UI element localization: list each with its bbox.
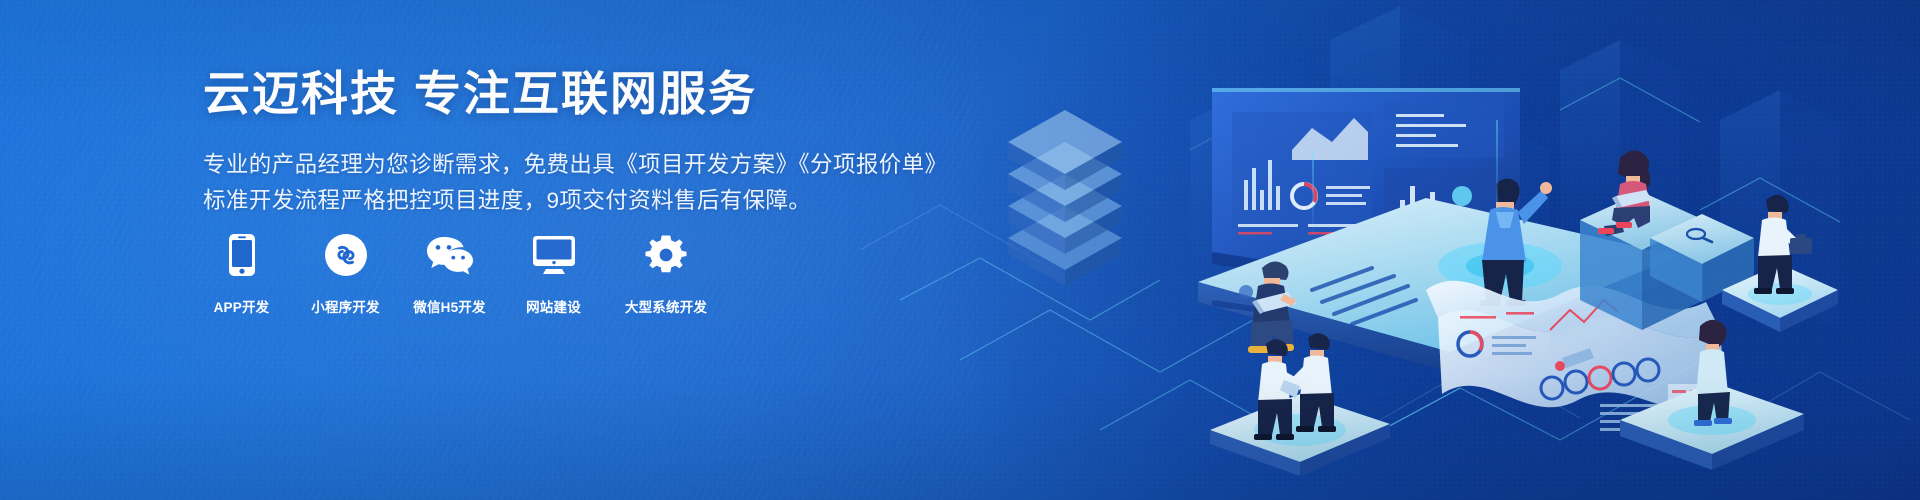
isometric-illustration [860, 0, 1920, 500]
server-stack [1008, 110, 1122, 286]
service-label: 微信H5开发 [413, 296, 485, 316]
subtitle-line-2: 标准开发流程严格把控项目进度，9项交付资料售后有保障。 [203, 183, 923, 219]
two-people-platform [1210, 333, 1390, 476]
smartphone-icon [228, 232, 256, 278]
service-item-app[interactable]: APP开发 [205, 232, 278, 316]
mini-program-icon [325, 232, 367, 278]
monitor-icon [532, 232, 576, 278]
wechat-icon [426, 232, 474, 278]
subtitle-block: 专业的产品经理为您诊断需求，免费出具《项目开发方案》《分项报价单》 标准开发流程… [203, 147, 923, 219]
service-label: APP开发 [214, 296, 270, 316]
page-title: 云迈科技 专注互联网服务 [203, 66, 923, 121]
subtitle-line-1: 专业的产品经理为您诊断需求，免费出具《项目开发方案》《分项报价单》 [203, 147, 923, 183]
gear-icon [645, 232, 687, 278]
service-label: 网站建设 [526, 296, 581, 316]
service-label: 小程序开发 [311, 296, 380, 316]
service-label: 大型系统开发 [625, 296, 707, 316]
service-item-website[interactable]: 网站建设 [517, 232, 590, 316]
promo-banner: 云迈科技 专注互联网服务 专业的产品经理为您诊断需求，免费出具《项目开发方案》《… [0, 0, 1920, 500]
service-item-mini-program[interactable]: 小程序开发 [309, 232, 382, 316]
service-item-wechat-h5[interactable]: 微信H5开发 [413, 232, 486, 316]
banner-copy: 云迈科技 专注互联网服务 专业的产品经理为您诊断需求，免费出具《项目开发方案》《… [203, 66, 923, 219]
service-list: APP开发 小程序开发 [205, 232, 711, 316]
service-item-large-system[interactable]: 大型系统开发 [621, 232, 711, 316]
